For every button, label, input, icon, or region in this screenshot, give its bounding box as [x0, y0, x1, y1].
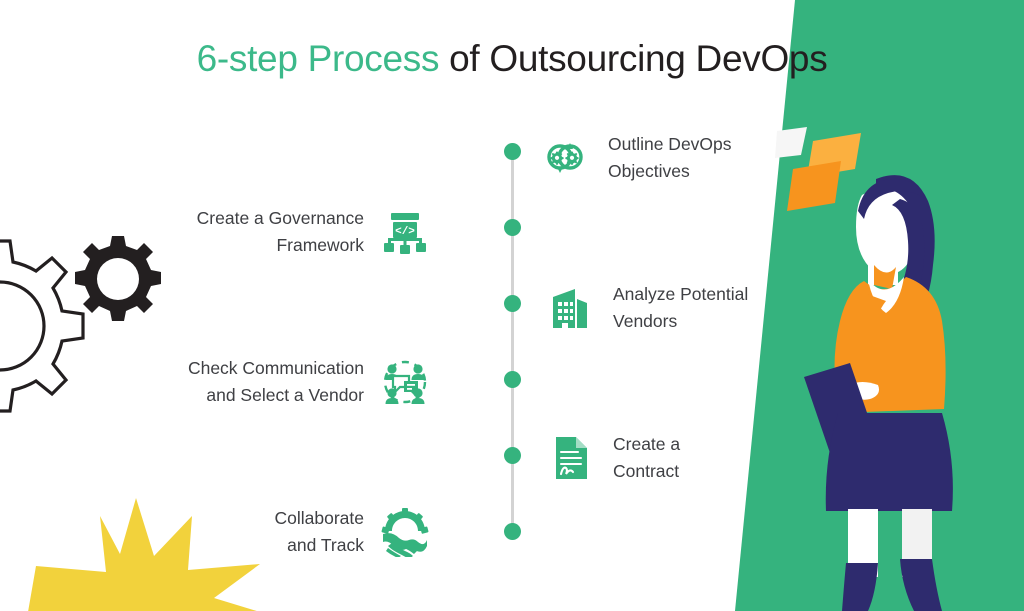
step-item-5[interactable]: Create a Contract: [545, 428, 680, 488]
title-accent: 6-step Process: [197, 38, 440, 79]
code-framework-hierarchy-icon: </>: [380, 207, 430, 257]
timeline-dot: [504, 447, 521, 464]
page-title: 6-step Process of Outsourcing DevOps: [0, 38, 1024, 80]
sunburst-icon: [28, 494, 260, 611]
handshake-gear-icon: [380, 507, 430, 557]
step-item-3[interactable]: Analyze Potential Vendors: [545, 278, 748, 338]
step-label-5: Create a Contract: [613, 431, 680, 485]
devops-infinity-gears-icon: [540, 133, 590, 183]
step-label-6-line2: and Track: [287, 535, 364, 555]
step-label-4-line2: and Select a Vendor: [206, 385, 364, 405]
svg-text:</>: </>: [395, 226, 415, 238]
title-plain: of Outsourcing DevOps: [439, 38, 827, 79]
step-label-4: Check Communication and Select a Vendor: [188, 355, 364, 409]
step-item-1[interactable]: Outline DevOps Objectives: [540, 128, 732, 188]
step-label-2-line2: Framework: [276, 235, 364, 255]
step-label-5-line1: Create a: [613, 434, 680, 454]
team-communication-icon: [380, 357, 430, 407]
step-label-1-line1: Outline DevOps: [608, 134, 732, 154]
step-label-4-line1: Check Communication: [188, 358, 364, 378]
step-label-3: Analyze Potential Vendors: [613, 281, 748, 335]
step-label-1-line2: Objectives: [608, 161, 690, 181]
timeline-spine: [511, 150, 514, 536]
step-label-5-line2: Contract: [613, 461, 679, 481]
step-label-2: Create a Governance Framework: [197, 205, 364, 259]
timeline-dot: [504, 523, 521, 540]
step-label-3-line2: Vendors: [613, 311, 677, 331]
timeline-dot: [504, 295, 521, 312]
step-label-2-line1: Create a Governance: [197, 208, 364, 228]
office-building-icon: [545, 283, 595, 333]
step-label-6-line1: Collaborate: [275, 508, 365, 528]
person-with-tablet-illustration: [790, 165, 980, 611]
step-item-2[interactable]: Create a Governance Framework </>: [197, 202, 430, 262]
step-item-4[interactable]: Check Communication and Select a Vendor: [188, 352, 430, 412]
timeline-dot: [504, 143, 521, 160]
timeline-dot: [504, 219, 521, 236]
step-label-1: Outline DevOps Objectives: [608, 131, 732, 185]
step-label-6: Collaborate and Track: [275, 505, 365, 559]
gears-icon: [0, 228, 182, 443]
timeline-dot: [504, 371, 521, 388]
step-label-3-line1: Analyze Potential: [613, 284, 748, 304]
signed-document-icon: [545, 433, 595, 483]
step-item-6[interactable]: Collaborate and Track: [275, 502, 431, 562]
infographic-canvas: 6-step Process of Outsourcing DevOps Out…: [0, 0, 1024, 611]
